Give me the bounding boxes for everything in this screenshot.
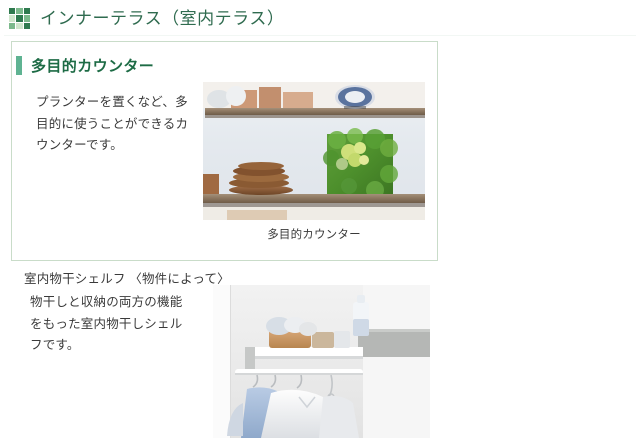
page-header: インナーテラス（室内テラス） (0, 0, 640, 30)
photo-caption: 多目的カウンター (203, 226, 425, 242)
card-heading: 多目的カウンター (16, 55, 437, 76)
card-heading-label: 多目的カウンター (31, 55, 154, 76)
multipurpose-counter-photo (203, 82, 425, 220)
card-description: プランターを置くなど、多目的に使うことができるカウンターです。 (36, 92, 196, 157)
header-divider (4, 35, 636, 36)
counter-photo-illustration (203, 82, 425, 220)
multipurpose-counter-card: 多目的カウンター プランターを置くなど、多目的に使うことができるカウンターです。 (11, 41, 438, 261)
indoor-laundry-shelf-section: 室内物干シェルフ 〈物件によって〉 物干しと収納の両方の機能をもった室内物干しシ… (0, 268, 640, 438)
laundry-shelf-illustration (213, 285, 430, 438)
laundry-shelf-photo (213, 285, 430, 438)
card-body: プランターを置くなど、多目的に使うことができるカウンターです。 (12, 76, 437, 246)
section2-heading: 室内物干シェルフ 〈物件によって〉 (24, 268, 230, 287)
page-title: インナーテラス（室内テラス） (40, 8, 284, 29)
section2-description: 物干しと収納の両方の機能をもった室内物干しシェルフです。 (30, 292, 195, 357)
accent-bar-icon (16, 56, 22, 75)
grid-3x3-icon (9, 8, 30, 29)
